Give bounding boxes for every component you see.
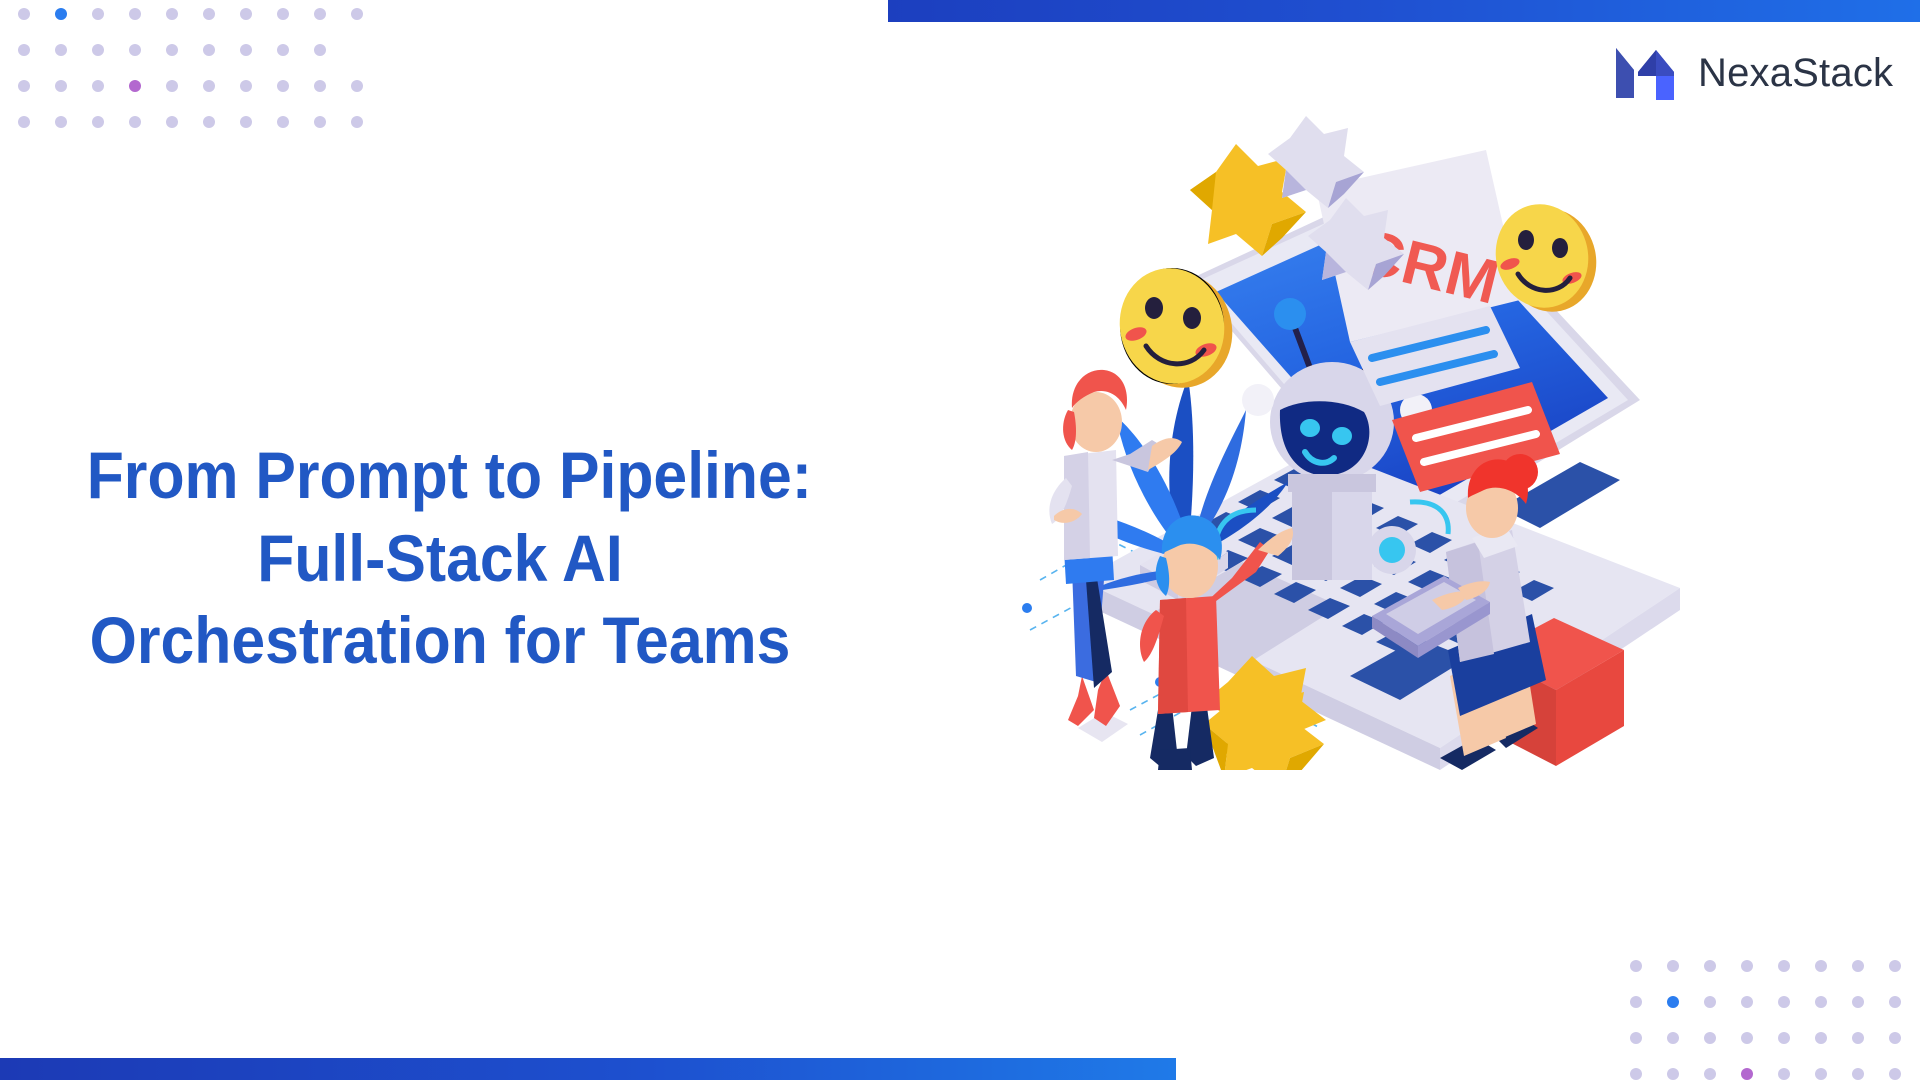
decorative-dot-grid-bottom-right	[1630, 960, 1901, 1080]
dot	[166, 80, 178, 92]
dot	[92, 116, 104, 128]
dot	[1815, 1068, 1827, 1080]
dot	[1889, 1068, 1901, 1080]
decorative-dot-grid-top-left	[18, 8, 363, 128]
dot	[314, 116, 326, 128]
dot	[55, 44, 67, 56]
dot	[166, 44, 178, 56]
brand-name: NexaStack	[1698, 51, 1893, 96]
dot	[1889, 960, 1901, 972]
dot	[203, 80, 215, 92]
page-title: From Prompt to Pipeline: Full-Stack AI O…	[63, 434, 817, 682]
dot	[1778, 1068, 1790, 1080]
dot	[240, 44, 252, 56]
dot	[1889, 996, 1901, 1008]
accent-bar-bottom	[0, 1058, 1176, 1080]
dot	[92, 80, 104, 92]
dot-empty	[351, 44, 363, 56]
dot	[1852, 1068, 1864, 1080]
headline-line-2: Full-Stack AI	[63, 517, 817, 600]
dot	[1778, 960, 1790, 972]
dot	[18, 80, 30, 92]
dot	[129, 116, 141, 128]
dot	[1778, 996, 1790, 1008]
dot	[55, 116, 67, 128]
dot	[1815, 960, 1827, 972]
dot	[1852, 960, 1864, 972]
dot	[277, 44, 289, 56]
dot	[1741, 960, 1753, 972]
dot	[92, 44, 104, 56]
dot	[129, 8, 141, 20]
dot	[1630, 1032, 1642, 1044]
dot-accent-blue	[55, 8, 67, 20]
dot	[351, 8, 363, 20]
dot	[277, 8, 289, 20]
dot	[129, 44, 141, 56]
dot	[277, 116, 289, 128]
dot	[240, 80, 252, 92]
dot	[1630, 960, 1642, 972]
dot	[203, 8, 215, 20]
dot	[18, 116, 30, 128]
dot	[1667, 960, 1679, 972]
dot	[1704, 1068, 1716, 1080]
dot	[18, 8, 30, 20]
dot	[240, 116, 252, 128]
dot	[1667, 1068, 1679, 1080]
dot-accent-blue	[1667, 996, 1679, 1008]
dot	[55, 80, 67, 92]
dot	[277, 80, 289, 92]
dot-accent-purple	[1741, 1068, 1753, 1080]
dot	[314, 8, 326, 20]
dot	[166, 116, 178, 128]
accent-bar-top	[888, 0, 1920, 22]
brand-logo: NexaStack	[1612, 42, 1893, 104]
dot	[351, 80, 363, 92]
dot	[203, 116, 215, 128]
dot	[166, 8, 178, 20]
dot	[1704, 996, 1716, 1008]
dot	[1815, 996, 1827, 1008]
dot	[1741, 996, 1753, 1008]
dot	[1815, 1032, 1827, 1044]
robot-antenna-ball-left	[1274, 298, 1306, 330]
headline-line-1: From Prompt to Pipeline:	[63, 434, 817, 517]
dot	[1778, 1032, 1790, 1044]
dot	[1630, 996, 1642, 1008]
dot	[1889, 1032, 1901, 1044]
dot-accent-purple	[129, 80, 141, 92]
dot	[1852, 1032, 1864, 1044]
dot	[240, 8, 252, 20]
dot	[203, 44, 215, 56]
dot	[314, 44, 326, 56]
dot	[1630, 1068, 1642, 1080]
dot	[1852, 996, 1864, 1008]
ai-team-collaboration-illustration: CRM	[1020, 110, 1700, 770]
nexastack-logo-icon	[1612, 42, 1678, 104]
dot	[92, 8, 104, 20]
dot	[351, 116, 363, 128]
headline-line-3: Orchestration for Teams	[63, 599, 817, 682]
dot	[1704, 960, 1716, 972]
dot	[1667, 1032, 1679, 1044]
dot	[1704, 1032, 1716, 1044]
dot	[1741, 1032, 1753, 1044]
dot	[314, 80, 326, 92]
dot	[18, 44, 30, 56]
